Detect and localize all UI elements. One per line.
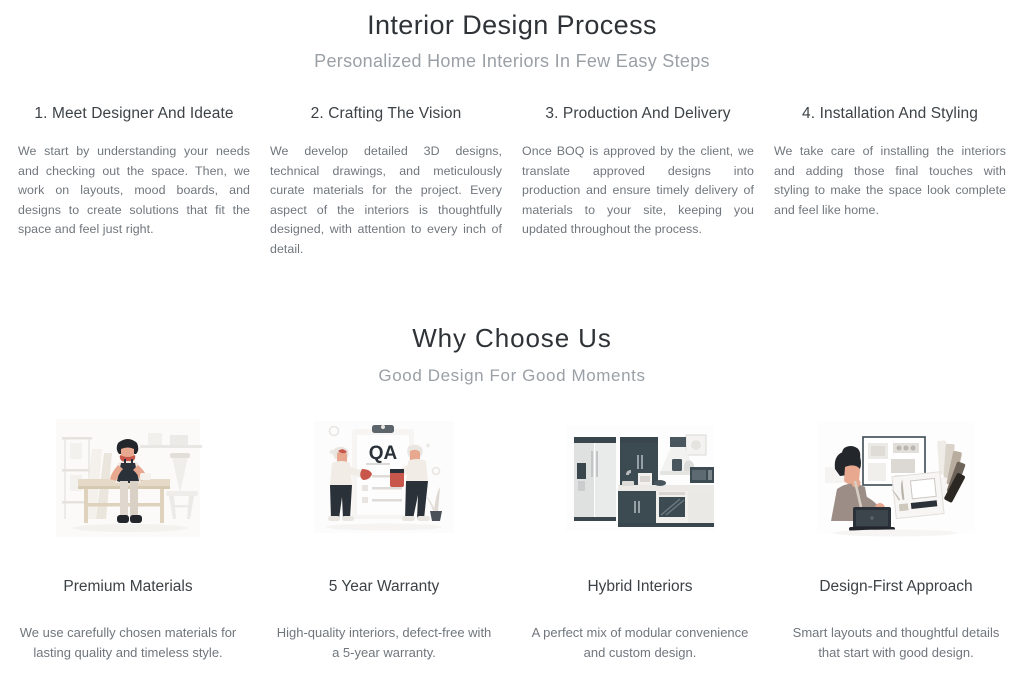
process-step-title: 4. Installation And Styling	[774, 103, 1006, 125]
feature-card-premium-materials: Premium Materials We use carefully chose…	[0, 414, 256, 663]
feature-card-5-year-warranty: QA	[256, 414, 512, 663]
process-section-title: Interior Design Process	[0, 8, 1024, 42]
process-step-body: We develop detailed 3D designs, technica…	[270, 142, 502, 259]
feature-title: Hybrid Interiors	[524, 576, 756, 598]
feature-description: A perfect mix of modular convenience and…	[524, 623, 756, 663]
qa-checklist-illustration: QA	[268, 414, 500, 544]
features-list: Premium Materials We use carefully chose…	[0, 414, 1024, 663]
svg-text:QA: QA	[369, 443, 398, 464]
feature-description: We use carefully chosen materials for la…	[12, 623, 244, 663]
process-step-body: We take care of installing the interiors…	[774, 142, 1006, 220]
process-step-body: Once BOQ is approved by the client, we t…	[522, 142, 754, 240]
carpenter-workshop-illustration	[12, 414, 244, 544]
process-step-title: 2. Crafting The Vision	[270, 103, 502, 125]
feature-description: Smart layouts and thoughtful details tha…	[780, 623, 1012, 663]
process-step-2: 2. Crafting The Vision We develop detail…	[260, 103, 512, 259]
process-steps-list: 1. Meet Designer And Ideate We start by …	[0, 103, 1024, 259]
process-step-body: We start by understanding your needs and…	[18, 142, 250, 240]
process-step-4: 4. Installation And Styling We take care…	[764, 103, 1016, 259]
interior-design-process-section: Interior Design Process Personalized Hom…	[0, 0, 1024, 259]
process-step-1: 1. Meet Designer And Ideate We start by …	[8, 103, 260, 259]
feature-card-design-first-approach: Design-First Approach Smart layouts and …	[768, 414, 1024, 663]
why-choose-us-section: Why Choose Us Good Design For Good Momen…	[0, 321, 1024, 663]
process-step-title: 1. Meet Designer And Ideate	[18, 103, 250, 125]
feature-title: 5 Year Warranty	[268, 576, 500, 598]
feature-card-hybrid-interiors: Hybrid Interiors A perfect mix of modula…	[512, 414, 768, 663]
process-section-subtitle: Personalized Home Interiors In Few Easy …	[0, 48, 1024, 74]
page-root: Interior Design Process Personalized Hom…	[0, 0, 1024, 678]
modular-kitchen-illustration	[524, 414, 756, 544]
process-step-3: 3. Production And Delivery Once BOQ is a…	[512, 103, 764, 259]
why-section-title: Why Choose Us	[0, 321, 1024, 355]
feature-title: Premium Materials	[12, 576, 244, 598]
process-step-title: 3. Production And Delivery	[522, 103, 754, 125]
feature-description: High-quality interiors, defect-free with…	[268, 623, 500, 663]
feature-title: Design-First Approach	[780, 576, 1012, 598]
designer-moodboard-illustration	[780, 414, 1012, 544]
why-section-subtitle: Good Design For Good Moments	[0, 363, 1024, 389]
